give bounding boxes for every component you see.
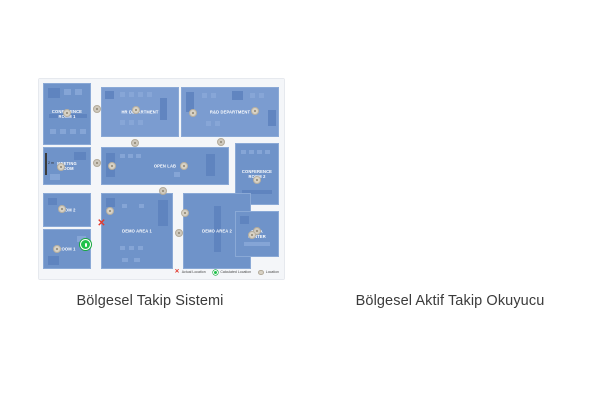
- green-dot-marker-icon: [213, 270, 219, 276]
- map-legend: ✕ Actual Location Calculated Location Lo…: [175, 270, 279, 276]
- caption-device: Bölgesel Aktif Takip Okuyucu: [300, 293, 600, 309]
- legend-item-actual-location: ✕ Actual Location: [175, 270, 206, 275]
- anchor-marker[interactable]: [93, 159, 101, 167]
- anchor-marker[interactable]: [93, 105, 101, 113]
- panel-device: DWC Bölgesel Aktif Takip Okuyucu: [300, 0, 600, 400]
- anchor-marker[interactable]: [159, 187, 167, 195]
- room-label: DEMO AREA 1: [102, 228, 172, 233]
- scale-bar-line: [45, 153, 47, 175]
- tag-marker[interactable]: [253, 176, 261, 184]
- tag-marker[interactable]: [58, 205, 66, 213]
- tag-marker[interactable]: [180, 162, 188, 170]
- room-label: ROOM 2: [44, 207, 90, 212]
- scale-bar-label: 2 m: [48, 161, 54, 165]
- room-hr-department[interactable]: HR DEPARTMENT: [101, 87, 179, 137]
- anchor-marker-icon: [258, 270, 264, 276]
- tag-marker[interactable]: [132, 106, 140, 114]
- room-open-lab[interactable]: OPEN LAB: [101, 147, 229, 185]
- legend-label: Calculated Location: [220, 270, 251, 274]
- anchor-marker[interactable]: [131, 139, 139, 147]
- room-room-2[interactable]: ROOM 2: [43, 193, 91, 227]
- legend-item-location: Location: [258, 270, 279, 276]
- floorplan-canvas: CONFERENCE ROOM 1 MEETING ROOM ROOM 2 RO…: [39, 79, 284, 279]
- actual-location-marker[interactable]: ✕: [97, 219, 106, 228]
- legend-label: Location: [266, 270, 279, 274]
- calculated-location-marker[interactable]: [80, 239, 91, 250]
- tag-marker[interactable]: [189, 109, 197, 117]
- tag-marker[interactable]: [251, 107, 259, 115]
- legend-label: Actual Location: [182, 270, 206, 274]
- floorplan-map[interactable]: CONFERENCE ROOM 1 MEETING ROOM ROOM 2 RO…: [38, 78, 285, 280]
- tag-marker[interactable]: [108, 162, 116, 170]
- caption-floorplan: Bölgesel Takip Sistemi: [0, 293, 300, 309]
- scale-bar: 2 m: [45, 153, 59, 175]
- product-figure: CONFERENCE ROOM 1 MEETING ROOM ROOM 2 RO…: [0, 0, 600, 400]
- tag-marker[interactable]: [181, 209, 189, 217]
- room-demo-area-1[interactable]: DEMO AREA 1: [101, 193, 173, 269]
- tag-marker[interactable]: [63, 109, 71, 117]
- tag-marker[interactable]: [106, 207, 114, 215]
- panel-floorplan: CONFERENCE ROOM 1 MEETING ROOM ROOM 2 RO…: [0, 0, 300, 400]
- x-marker-icon: ✕: [175, 270, 180, 275]
- anchor-marker[interactable]: [175, 229, 183, 237]
- anchor-marker[interactable]: [217, 138, 225, 146]
- legend-item-calculated-location: Calculated Location: [213, 270, 251, 276]
- tag-marker[interactable]: [53, 245, 61, 253]
- tag-marker[interactable]: [248, 231, 256, 239]
